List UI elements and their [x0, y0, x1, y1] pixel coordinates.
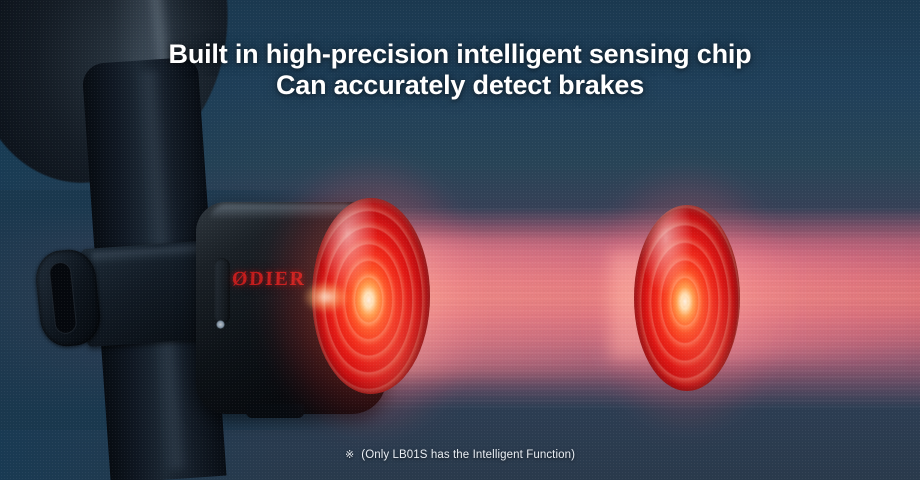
primary-lens-hotspot	[304, 282, 348, 312]
footnote-text: (Only LB01S has the Intelligent Function…	[361, 449, 575, 461]
footnote-caption: ※(Only LB01S has the Intelligent Functio…	[0, 448, 920, 461]
button-indicator-icon	[216, 320, 225, 329]
headline-line-1: Built in high-precision intelligent sens…	[169, 39, 752, 69]
headline: Built in high-precision intelligent sens…	[0, 8, 920, 132]
reference-mark-icon: ※	[345, 449, 354, 461]
housing-bottom-tab	[246, 404, 304, 418]
headline-line-2: Can accurately detect brakes	[0, 70, 920, 101]
brand-logo: ØDIER	[232, 268, 306, 291]
secondary-lens	[634, 205, 740, 391]
power-button[interactable]	[214, 258, 230, 324]
secondary-lens-rim	[634, 205, 740, 391]
promo-banner: ØDIER Built in high-precision intelligen…	[0, 0, 920, 480]
